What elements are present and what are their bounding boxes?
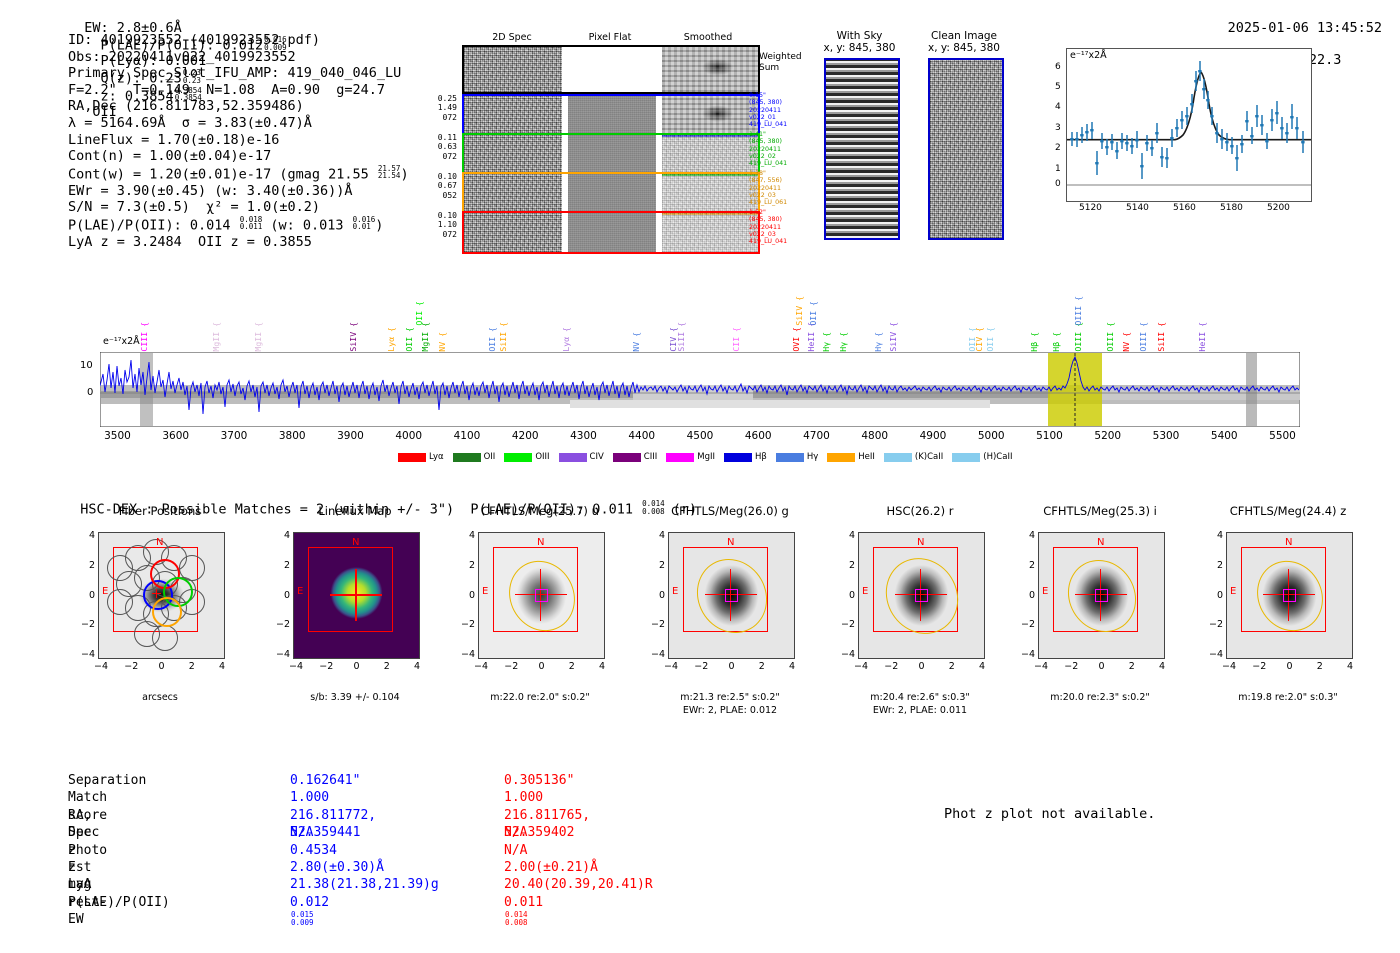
legend-item-MgII: MgII [666, 452, 715, 463]
fiber-panel-3 [462, 172, 760, 215]
legend-swatch [666, 453, 694, 462]
cutout-panel-r-band[interactable]: HSC(26.2) r N E m:20.4 re:2.6" s:0.3" EW… [820, 524, 1020, 714]
legend-item-HCaII: (H)CaII [952, 452, 1012, 463]
fullspec-xtick-5400: 5400 [1206, 430, 1242, 442]
line-marker-NV-8: NV { [437, 332, 447, 352]
fiber-circle-orange [152, 597, 182, 627]
table-row-value: 21.38(21.38,21.39)g [290, 876, 439, 893]
north-label: N [1285, 537, 1292, 548]
legend-label: OIII [535, 452, 549, 462]
fullspec-xtick-3900: 3900 [332, 430, 368, 442]
line-marker-OII-19: OII { [808, 301, 818, 326]
r-band-image[interactable]: N E [858, 532, 985, 659]
linezoom-units: e⁻¹⁷x2Å [1070, 50, 1107, 61]
linezoom-xtick-1: 5140 [1126, 203, 1149, 213]
info-cont-w: Cont(w) = 1.20(±0.01)e-17 (gmag 21.55 21… [68, 165, 409, 183]
line-marker-CII-15: CII { [731, 327, 741, 352]
table-row-value: 2.80(±0.30)Å [290, 859, 384, 876]
legend-swatch [613, 453, 641, 462]
fullspec-xtick-3700: 3700 [216, 430, 252, 442]
r-band-sub1: m:20.4 re:2.6" s:0.3" [820, 692, 1020, 704]
info-plae-w-errors: 0.0160.01 [353, 216, 376, 231]
r-band-sub2: EWr: 2, PLAE: 0.011 [820, 705, 1020, 717]
line-marker-CIII-0: CIII { [139, 322, 149, 352]
fullspec-xtick-3500: 3500 [99, 430, 135, 442]
fiber-left-label-1: 0.251.49072 [425, 94, 457, 122]
fullspec-xtick-3600: 3600 [158, 430, 194, 442]
line-marker-H-27: Hβ { [1029, 332, 1039, 352]
fullspec-ytick-0: 0 [87, 387, 93, 398]
fullspec-xtick-4100: 4100 [449, 430, 485, 442]
u-band-sub1: m:22.0 re:2.0" s:0.2" [440, 692, 640, 704]
source-info-block: ID: 4019923552 (4019923552.pdf) Obs: 202… [68, 32, 409, 250]
table-row-value: 20.40(20.39,20.41)R [504, 876, 653, 893]
line-marker-OIII-33: OIII { [1138, 322, 1148, 352]
legend-swatch [453, 453, 481, 462]
g-band-sub2: EWr: 2, PLAE: 0.012 [630, 705, 830, 717]
timestamp: 2025-01-06 13:45:52 [1228, 20, 1382, 36]
fiber-right-label-3: 1.38"(847, 556)20220411v022_03419_LU_061 [749, 170, 787, 206]
lineflux-map-sub1: s/b: 3.39 +/- 0.104 [255, 692, 455, 704]
fiber-right-label-2: 1.41"(845, 380)20220411v022_02419_LU_041 [749, 131, 787, 167]
with-sky-title: With Skyx, y: 845, 380 [812, 30, 907, 54]
legend-swatch [884, 453, 912, 462]
north-label: N [917, 537, 924, 548]
info-redshifts: LyA z = 3.2484 OII z = 0.3855 [68, 234, 409, 251]
col-title-pixelflat: Pixel Flat [560, 32, 660, 43]
east-label: E [672, 586, 678, 597]
linezoom-ytick-1: 1 [1055, 164, 1061, 174]
info-radec: RA,Dec (216.811783,52.359486) [68, 98, 409, 115]
fullspec-xtick-4300: 4300 [565, 430, 601, 442]
line-marker-SiII-14: SiII { [676, 322, 686, 352]
cutout-panel-i-band[interactable]: CFHTLS/Meg(25.3) i N E m:20.0 re:2.3" s:… [1000, 524, 1200, 714]
linezoom-ytick-6: 6 [1055, 62, 1061, 72]
legend-label: (H)CaII [983, 452, 1012, 462]
east-label: E [102, 586, 108, 597]
table-row-value: 0.012 0.0150.009 [290, 894, 329, 930]
linezoom-axes [1066, 48, 1312, 202]
line-marker-OII-26: OII { [985, 327, 995, 352]
legend-label: HeII [858, 452, 875, 462]
panel-title-r-band: HSC(26.2) r [820, 504, 1020, 518]
cutout-panel-lineflux-map[interactable]: Lineflux Map N E s/b: 3.39 +/- 0.104 [255, 524, 455, 714]
linezoom-xtick-3: 5180 [1220, 203, 1243, 213]
panel-title-z-band: CFHTLS/Meg(24.4) z [1188, 504, 1388, 518]
match-box [725, 589, 738, 602]
fullspec-xtick-3800: 3800 [274, 430, 310, 442]
line-marker-H-22: Hγ { [873, 332, 883, 352]
clean-image [928, 58, 1004, 240]
legend-label: Hβ [755, 452, 767, 462]
info-snr: S/N = 7.3(±0.5) χ² = 1.0(±0.2) [68, 199, 409, 216]
line-marker-OVI-16: OVI { [791, 327, 801, 352]
fiber-left-label-4: 0.101.10072 [425, 211, 457, 239]
fiber-positions-xlabel: arcsecs [60, 692, 260, 704]
north-label: N [156, 537, 163, 548]
fiber-positions-image[interactable]: N E [98, 532, 225, 659]
linezoom-ytick-2: 2 [1055, 143, 1061, 153]
legend-swatch [398, 453, 426, 462]
linezoom-ytick-5: 5 [1055, 82, 1061, 92]
i-band-image[interactable]: N E [1038, 532, 1165, 659]
fullspec-ytick-10: 10 [80, 360, 93, 371]
linezoom-ytick-4: 4 [1055, 102, 1061, 112]
legend-label: OII [484, 452, 496, 462]
north-label: N [352, 537, 359, 548]
weighted-sum-label: WeightedSum [759, 52, 802, 74]
info-gmag-errors: 21.5721.54 [378, 165, 401, 180]
fullspec-line-labels: CIII {MgII {MgII {SiIV {Lyα {OII {OII {M… [100, 268, 1300, 352]
line-marker-MgII-7: MgII { [420, 322, 430, 352]
col-title-2dspec: 2D Spec [462, 32, 562, 43]
panel-title-u-band: CFHTLS/Meg(25.7) u [440, 504, 640, 518]
legend-swatch [724, 453, 752, 462]
fullspec-xtick-5000: 5000 [973, 430, 1009, 442]
legend-label: (K)CaII [915, 452, 943, 462]
fullspec-legend: LyαOIIOIIICIVCIIIMgIIHβHγHeII(K)CaII(H)C… [398, 452, 1021, 463]
info-plae-errors: 0.0180.011 [240, 216, 263, 231]
legend-label: CIV [590, 452, 604, 462]
table-row-value: 0.305136" [504, 772, 574, 789]
linezoom-svg [1067, 49, 1311, 201]
legend-item-OII: OII [453, 452, 496, 463]
table-row-label: Separation [68, 772, 146, 789]
table-plae-errors: 0.0140.008 [505, 911, 528, 926]
fullspec-xtick-5300: 5300 [1148, 430, 1184, 442]
line-marker-H-21: Hγ { [838, 332, 848, 352]
panel-title-fiber-positions: Fiber Positions [60, 504, 260, 518]
fullspec-xtick-4400: 4400 [624, 430, 660, 442]
clean-image-title: Clean Imagex, y: 845, 380 [915, 30, 1013, 54]
match-box [915, 589, 928, 602]
line-marker-SiIV-23: SiIV { [888, 322, 898, 352]
fiber-panel-4 [462, 211, 760, 254]
linezoom-xtick-0: 5120 [1079, 203, 1102, 213]
panel-title-i-band: CFHTLS/Meg(25.3) i [1000, 504, 1200, 518]
linezoom-xtick-4: 5200 [1267, 203, 1290, 213]
fullspec-xtick-5500: 5500 [1265, 430, 1301, 442]
line-marker-H-20: Hγ { [821, 332, 831, 352]
line-marker-SiII-10: SiII { [498, 322, 508, 352]
linezoom-ytick-0: 0 [1055, 179, 1061, 189]
info-lineflux: LineFlux = 1.70(±0.18)e-16 [68, 132, 409, 149]
north-label: N [537, 537, 544, 548]
table-row-value: 1.000 [504, 789, 543, 806]
legend-item-H: Hβ [724, 452, 767, 463]
east-label: E [297, 586, 303, 597]
match-box [535, 589, 548, 602]
info-cont-n: Cont(n) = 1.00(±0.04)e-17 [68, 148, 409, 165]
info-primary-spec: Primary Spec_Slot_IFU_AMP: 419_040_046_L… [68, 65, 409, 82]
full-spectrum-plot: e⁻¹⁷x2Å 10 0 [100, 352, 1300, 427]
line-marker-SiIV-3: SiIV { [348, 322, 358, 352]
g-band-sub1: m:21.3 re:2.5" s:0.2" [630, 692, 830, 704]
legend-item-HeII: HeII [827, 452, 875, 463]
fiber-right-label-1: 0.15"(845, 380)20220411v022_01419_LU_041 [749, 92, 787, 128]
linezoom-xtick-2: 5160 [1173, 203, 1196, 213]
cutout-panel-fiber-positions[interactable]: Fiber Positions N E arcsecs [60, 524, 260, 714]
panel-title-g-band: CFHTLS/Meg(26.0) g [630, 504, 830, 518]
table-row-value: 0.011 0.0140.008 [504, 894, 543, 930]
fiber-panel-2 [462, 133, 760, 176]
with-sky-image [824, 58, 900, 240]
table-plae-errors: 0.0150.009 [291, 911, 314, 926]
fullspec-xtick-5200: 5200 [1090, 430, 1126, 442]
legend-swatch [952, 453, 980, 462]
info-obs: Obs: 20220411v022_4019923552 [68, 49, 409, 66]
north-label: N [727, 537, 734, 548]
legend-item-OIII: OIII [504, 452, 549, 463]
table-row-label: P(LAE)/P(OII) [68, 894, 170, 911]
table-row-value: 0.4534 [290, 842, 337, 859]
z-band-image[interactable]: N E [1226, 532, 1353, 659]
legend-item-H: Hγ [776, 452, 818, 463]
line-marker-NV-32: NV { [1121, 332, 1131, 352]
line-marker-NV-12: NV { [631, 332, 641, 352]
fullspec-xtick-4000: 4000 [391, 430, 427, 442]
legend-item-CIV: CIV [559, 452, 604, 463]
fullspec-xtick-4800: 4800 [857, 430, 893, 442]
panel-title-lineflux-map: Lineflux Map [255, 504, 455, 518]
legend-swatch [504, 453, 532, 462]
line-marker-OIII-29: OIII { [1073, 322, 1083, 352]
linezoom-ytick-3: 3 [1055, 123, 1061, 133]
line-marker-SiIV-17: SiIV { [794, 296, 804, 326]
line-marker-Ly-4: Lyα { [386, 327, 396, 352]
match-box [1283, 589, 1296, 602]
lineflux-map-image[interactable]: N E [293, 532, 420, 659]
line-marker-OIII-31: OIII { [1105, 322, 1115, 352]
table-row-value: 2.00(±0.21)Å [504, 859, 598, 876]
east-label: E [1042, 586, 1048, 597]
fullspec-xtick-5100: 5100 [1032, 430, 1068, 442]
table-row-value: N/A [290, 824, 313, 841]
table-row-value: N/A [504, 824, 527, 841]
red-box [308, 547, 393, 632]
legend-swatch [559, 453, 587, 462]
i-band-sub1: m:20.0 re:2.3" s:0.2" [1000, 692, 1200, 704]
legend-label: Hγ [807, 452, 818, 462]
line-marker-MgII-1: MgII { [211, 322, 221, 352]
line-marker-SiII-34: SiII { [1156, 322, 1166, 352]
line-marker-H-28: Hβ { [1051, 332, 1061, 352]
fullspec-svg [100, 352, 1300, 427]
fiber-left-label-2: 0.110.63072 [425, 133, 457, 161]
table-row-value: N/A [504, 842, 527, 859]
u-band-image[interactable]: N E [478, 532, 605, 659]
g-band-image[interactable]: N E [668, 532, 795, 659]
weighted-sum-panel [462, 45, 760, 94]
line-marker-CIV-25: CIV { [974, 327, 984, 352]
emission-line-zoom-plot: e⁻¹⁷x2Å 6 5 4 3 2 1 0 5120 5140 5160 518… [1038, 48, 1310, 218]
legend-item-CIII: CIII [613, 452, 657, 463]
line-marker-MgII-2: MgII { [253, 322, 263, 352]
fiber-panel-1 [462, 94, 760, 137]
legend-item-KCaII: (K)CaII [884, 452, 943, 463]
line-marker-HeII-18: HeII { [806, 322, 816, 352]
fullspec-xtick-4200: 4200 [507, 430, 543, 442]
legend-label: Lyα [429, 452, 444, 462]
north-label: N [1097, 537, 1104, 548]
fiber-left-label-3: 0.100.67052 [425, 172, 457, 200]
table-row-value: 0.162641" [290, 772, 360, 789]
fiber-right-label-4: 1.52"(845, 380)20220411v022_03419_LU_041 [749, 209, 787, 245]
info-lambda: λ = 5164.69Å σ = 3.83(±0.47)Å [68, 115, 409, 132]
legend-label: MgII [697, 452, 715, 462]
line-marker-OII-9: OII { [487, 327, 497, 352]
info-id: ID: 4019923552 (4019923552.pdf) [68, 32, 409, 49]
line-marker-OII-5: OII { [404, 327, 414, 352]
cutout-panel-g-band[interactable]: CFHTLS/Meg(26.0) g N E m:21.3 re:2.5" s:… [630, 524, 830, 714]
cutout-panel-z-band[interactable]: CFHTLS/Meg(24.4) z N E m:19.8 re:2.0" s:… [1188, 524, 1388, 714]
east-label: E [1230, 586, 1236, 597]
line-marker-HeII-35: HeII { [1197, 322, 1207, 352]
table-row-label: mag [68, 876, 91, 893]
info-seeing: F=2.2" T=0.149 N=1.08 A=0.90 g=24.7 [68, 82, 409, 99]
fullspec-xticks: 3500360037003800390040004100420043004400… [100, 430, 1300, 446]
legend-item-Ly: Lyα [398, 452, 444, 463]
fullspec-xtick-4900: 4900 [915, 430, 951, 442]
fullspec-xtick-4500: 4500 [682, 430, 718, 442]
fullspec-xtick-4700: 4700 [799, 430, 835, 442]
legend-swatch [827, 453, 855, 462]
legend-swatch [776, 453, 804, 462]
cutout-panel-u-band[interactable]: CFHTLS/Meg(25.7) u N E m:22.0 re:2.0" s:… [440, 524, 640, 714]
two-d-spec-block: 2D Spec Pixel Flat Smoothed WeightedSum [462, 32, 758, 252]
line-marker-Ly-11: Lyα { [561, 327, 571, 352]
info-plae: P(LAE)/P(OII): 0.014 0.0180.011 (w: 0.01… [68, 216, 409, 234]
fullspec-xtick-4600: 4600 [740, 430, 776, 442]
line-marker-OIII-30: OIII { [1073, 296, 1083, 326]
east-label: E [482, 586, 488, 597]
info-ewr: EWr = 3.90(±0.45) (w: 3.40(±0.36))Å [68, 183, 409, 200]
match-box [1095, 589, 1108, 602]
legend-label: CIII [644, 452, 657, 462]
photoz-note: Phot z plot not available. [944, 806, 1155, 822]
z-band-sub1: m:19.8 re:2.0" s:0.3" [1188, 692, 1388, 704]
col-title-smoothed: Smoothed [658, 32, 758, 43]
table-row-value: 1.000 [290, 789, 329, 806]
east-label: E [862, 586, 868, 597]
